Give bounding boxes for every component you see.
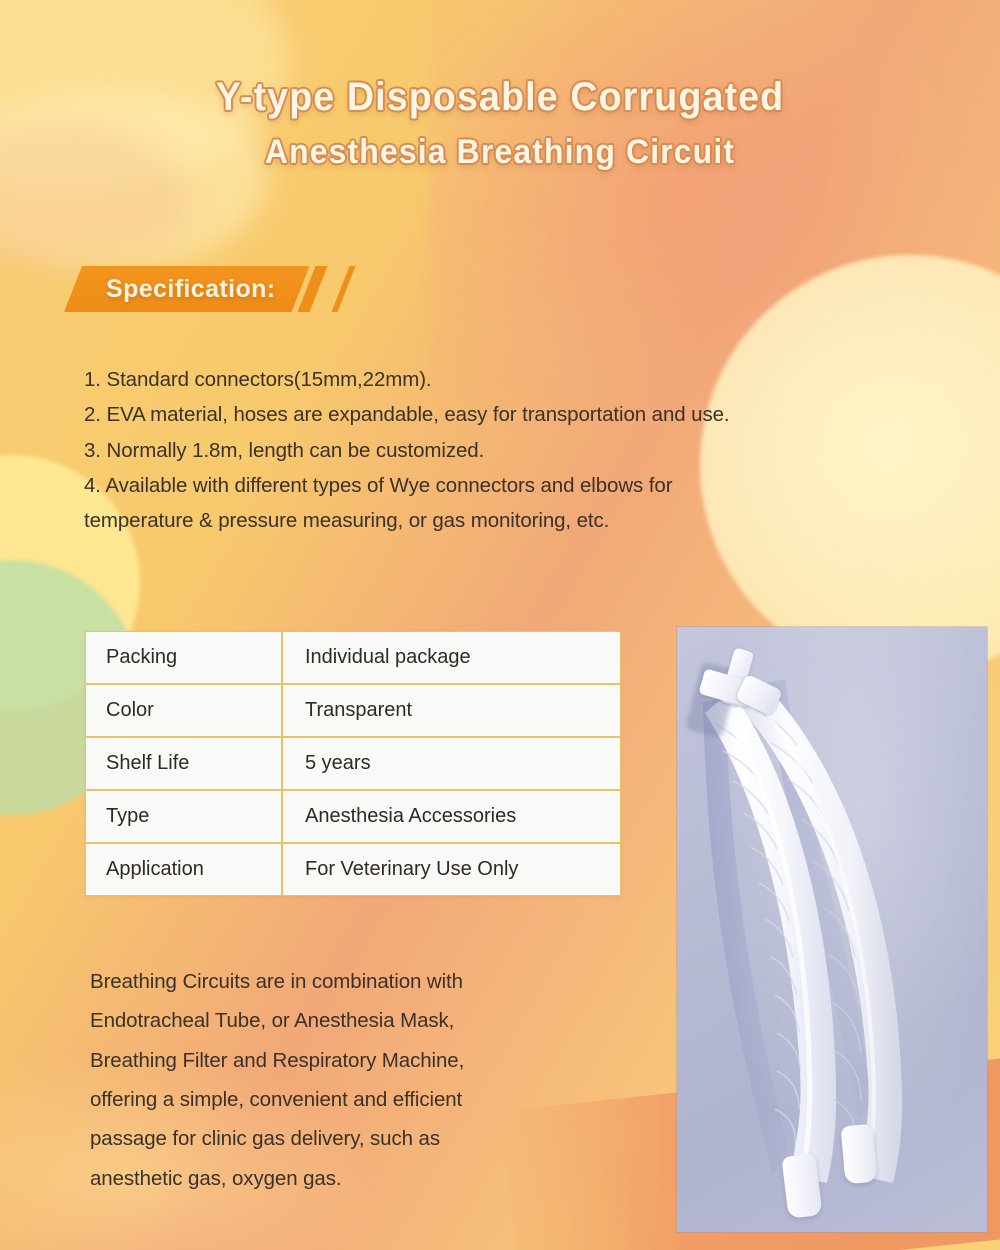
specification-list: 1. Standard connectors(15mm,22mm). 2. EV… <box>84 362 884 538</box>
table-cell-key: Application <box>85 843 282 896</box>
table-cell-value: Anesthesia Accessories <box>282 790 621 843</box>
table-row: Color Transparent <box>85 684 621 737</box>
table-cell-key: Shelf Life <box>85 737 282 790</box>
specification-item: 2. EVA material, hoses are expandable, e… <box>84 397 884 432</box>
tube-end-cuff-rear <box>841 1124 878 1185</box>
specification-badge-label: Specification: <box>106 275 276 304</box>
specification-badge: Specification: <box>64 266 310 312</box>
product-photo <box>677 627 987 1232</box>
table-cell-value: Transparent <box>282 684 621 737</box>
description-paragraph: Breathing Circuits are in combination wi… <box>90 962 650 1198</box>
description-line: Endotracheal Tube, or Anesthesia Mask, <box>90 1001 650 1040</box>
table-row: Type Anesthesia Accessories <box>85 790 621 843</box>
table-cell-value: For Veterinary Use Only <box>282 843 621 896</box>
specification-item: 1. Standard connectors(15mm,22mm). <box>84 362 884 397</box>
specification-item: temperature & pressure measuring, or gas… <box>84 503 884 538</box>
table-cell-key: Color <box>85 684 282 737</box>
specification-item: 4. Available with different types of Wye… <box>84 468 884 503</box>
table-cell-value: 5 years <box>282 737 621 790</box>
stripe-accent-3 <box>360 266 378 312</box>
specification-table: Packing Individual package Color Transpa… <box>85 631 621 896</box>
description-line: anesthetic gas, oxygen gas. <box>90 1159 650 1198</box>
table-row: Application For Veterinary Use Only <box>85 843 621 896</box>
description-line: passage for clinic gas delivery, such as <box>90 1119 650 1158</box>
stripe-accent-2 <box>332 266 356 312</box>
table-row: Packing Individual package <box>85 631 621 684</box>
wye-connector <box>693 649 811 741</box>
table-row: Shelf Life 5 years <box>85 737 621 790</box>
product-spec-page: Y-type Disposable Corrugated Anesthesia … <box>0 0 1000 1250</box>
description-line: Breathing Circuits are in combination wi… <box>90 962 650 1001</box>
table-cell-key: Packing <box>85 631 282 684</box>
description-line: Breathing Filter and Respiratory Machine… <box>90 1041 650 1080</box>
specification-header: Specification: <box>64 266 378 312</box>
table-cell-value: Individual package <box>282 631 621 684</box>
page-title-line-2: Anesthesia Breathing Circuit <box>30 132 970 172</box>
specification-item: 3. Normally 1.8m, length can be customiz… <box>84 433 884 468</box>
page-title: Y-type Disposable Corrugated Anesthesia … <box>0 74 1000 172</box>
page-title-line-1: Y-type Disposable Corrugated <box>30 74 970 121</box>
description-line: offering a simple, convenient and effici… <box>90 1080 650 1119</box>
table-cell-key: Type <box>85 790 282 843</box>
